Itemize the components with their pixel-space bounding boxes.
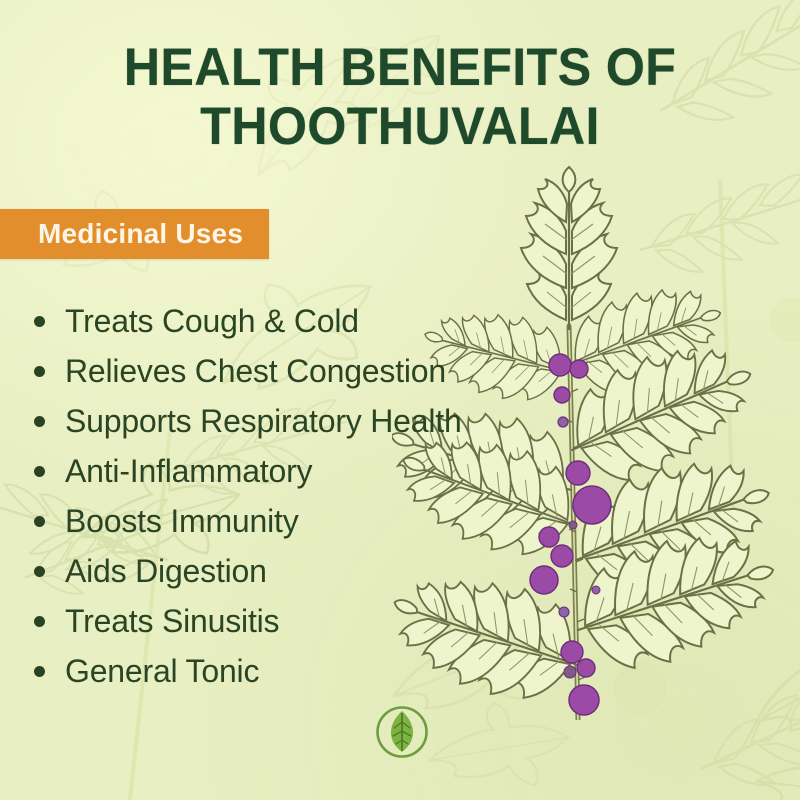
list-item: Anti-Inflammatory bbox=[28, 446, 628, 496]
bullet-dot-icon bbox=[34, 566, 45, 577]
benefit-label: Supports Respiratory Health bbox=[65, 403, 462, 439]
benefit-label: Treats Sinusitis bbox=[65, 603, 279, 639]
page-title: HEALTH BENEFITS OF THOOTHUVALAI bbox=[0, 38, 800, 156]
benefits-list: Treats Cough & Cold Relieves Chest Conge… bbox=[28, 296, 628, 696]
medicinal-uses-banner: Medicinal Uses bbox=[0, 209, 269, 259]
bullet-dot-icon bbox=[34, 616, 45, 627]
bullet-dot-icon bbox=[34, 516, 45, 527]
title-line-1: HEALTH BENEFITS OF bbox=[20, 38, 780, 97]
benefit-label: Boosts Immunity bbox=[65, 503, 299, 539]
bullet-dot-icon bbox=[34, 416, 45, 427]
list-item: Treats Cough & Cold bbox=[28, 296, 628, 346]
bullet-dot-icon bbox=[34, 666, 45, 677]
benefit-label: Treats Cough & Cold bbox=[65, 303, 359, 339]
banner-label: Medicinal Uses bbox=[38, 219, 243, 249]
bullet-dot-icon bbox=[34, 366, 45, 377]
leaf-in-circle-icon bbox=[372, 702, 432, 762]
list-item: General Tonic bbox=[28, 646, 628, 696]
infographic-poster: HEALTH BENEFITS OF THOOTHUVALAI Medicina… bbox=[0, 0, 800, 800]
title-line-2: THOOTHUVALAI bbox=[20, 97, 780, 156]
benefit-label: Anti-Inflammatory bbox=[65, 453, 312, 489]
benefit-label: Aids Digestion bbox=[65, 553, 267, 589]
bullet-dot-icon bbox=[34, 466, 45, 477]
benefit-label: Relieves Chest Congestion bbox=[65, 353, 446, 389]
list-item: Boosts Immunity bbox=[28, 496, 628, 546]
list-item: Aids Digestion bbox=[28, 546, 628, 596]
bullet-dot-icon bbox=[34, 316, 45, 327]
benefit-label: General Tonic bbox=[65, 653, 259, 689]
list-item: Treats Sinusitis bbox=[28, 596, 628, 646]
list-item: Supports Respiratory Health bbox=[28, 396, 628, 446]
list-item: Relieves Chest Congestion bbox=[28, 346, 628, 396]
